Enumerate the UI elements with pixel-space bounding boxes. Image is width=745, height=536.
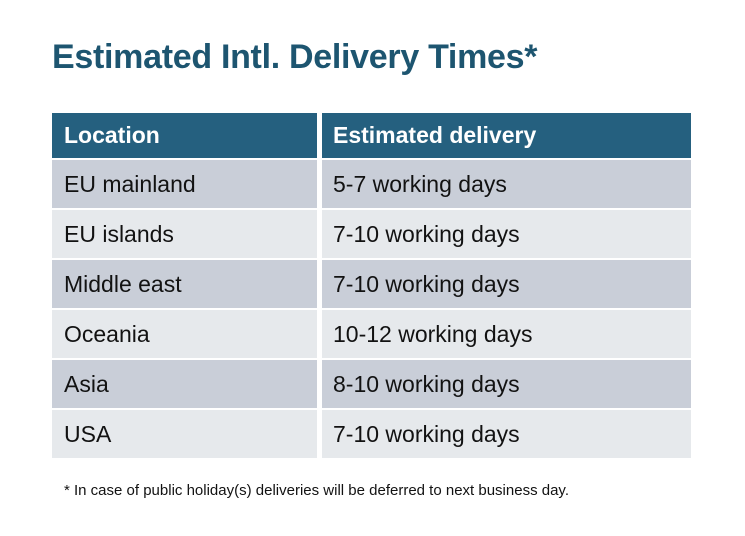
delivery-times-page: Estimated Intl. Delivery Times* Location…	[0, 0, 745, 536]
cell-estimated-delivery: 5-7 working days	[322, 160, 691, 208]
column-header-location: Location	[52, 113, 317, 158]
footnote-text: * In case of public holiday(s) deliverie…	[64, 481, 569, 501]
table-row: USA 7-10 working days	[52, 410, 691, 458]
cell-location: Middle east	[52, 260, 317, 308]
cell-estimated-delivery: 8-10 working days	[322, 360, 691, 408]
table-row: EU islands 7-10 working days	[52, 210, 691, 258]
cell-location: Oceania	[52, 310, 317, 358]
cell-estimated-delivery: 7-10 working days	[322, 210, 691, 258]
table-row: EU mainland 5-7 working days	[52, 160, 691, 208]
table-row: Asia 8-10 working days	[52, 360, 691, 408]
cell-location: EU islands	[52, 210, 317, 258]
cell-location: Asia	[52, 360, 317, 408]
column-header-estimated-delivery: Estimated delivery	[322, 113, 691, 158]
table-header-row: Location Estimated delivery	[52, 113, 691, 158]
page-title: Estimated Intl. Delivery Times*	[52, 36, 537, 78]
table-row: Middle east 7-10 working days	[52, 260, 691, 308]
cell-estimated-delivery: 7-10 working days	[322, 410, 691, 458]
table-row: Oceania 10-12 working days	[52, 310, 691, 358]
cell-location: EU mainland	[52, 160, 317, 208]
estimated-delivery-times-table: Location Estimated delivery EU mainland …	[52, 113, 691, 458]
cell-estimated-delivery: 7-10 working days	[322, 260, 691, 308]
cell-location: USA	[52, 410, 317, 458]
cell-estimated-delivery: 10-12 working days	[322, 310, 691, 358]
